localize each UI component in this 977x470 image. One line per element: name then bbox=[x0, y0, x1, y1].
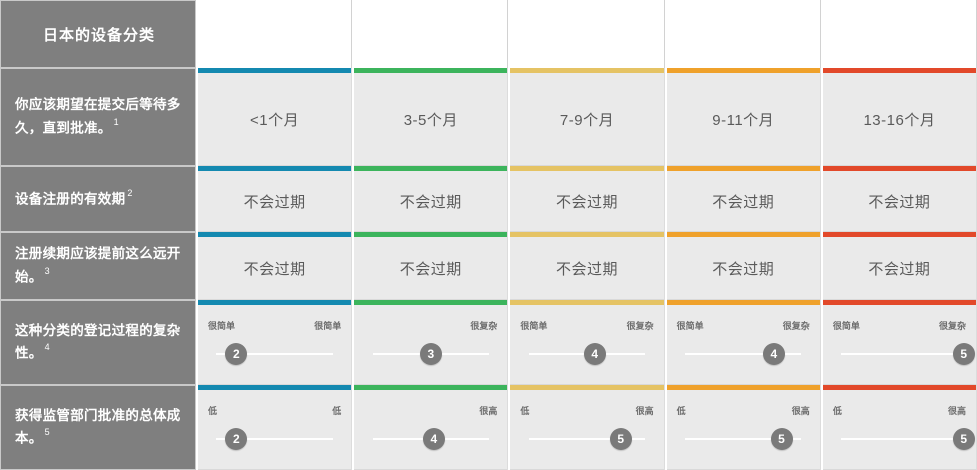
column-header-class-2-controlled[interactable]: 第 Ⅱ 类 受控医疗设备 bbox=[508, 0, 664, 68]
cell-value: 不会过期 bbox=[244, 258, 306, 279]
row-footnote-marker: 2 bbox=[127, 188, 132, 198]
cell-value: 不会过期 bbox=[868, 258, 930, 279]
scale-badge[interactable]: 4 bbox=[584, 343, 606, 365]
scale-right-label: 很复杂 bbox=[783, 319, 810, 332]
scale-badge[interactable]: 4 bbox=[423, 428, 445, 450]
cell-value: 9-11个月 bbox=[712, 109, 774, 130]
cell-approval-time-class-2-designated: 3-5个月 bbox=[352, 68, 508, 166]
cell-value: 不会过期 bbox=[712, 191, 774, 212]
cell-cost-class-3: 低 很高 5 bbox=[665, 385, 821, 470]
scale-badge[interactable]: 5 bbox=[953, 343, 975, 365]
cell-renewal-class-3: 不会过期 bbox=[665, 232, 821, 300]
cell-value: 不会过期 bbox=[868, 191, 930, 212]
scale-right-label: 低 bbox=[332, 404, 341, 417]
scale-left-label: 低 bbox=[833, 404, 842, 417]
cell-approval-time-class-4: 13-16个月 bbox=[821, 68, 977, 166]
cell-value: 3-5个月 bbox=[404, 109, 458, 130]
row-label-renewal-lead-time: 注册续期应该提前这么远开始。3 bbox=[0, 232, 196, 300]
complexity-scale[interactable]: 很简单 很复杂 5 bbox=[823, 305, 976, 385]
column-header-class-3[interactable]: 第III 类 高度控制的医疗设备 bbox=[665, 0, 821, 68]
table-row: 获得监管部门批准的总体成本。5 低 低 2 很高 4 bbox=[0, 385, 977, 470]
scale-left-label: 很简单 bbox=[833, 319, 860, 332]
row-label-text: 注册续期应该提前这么远开始。 bbox=[15, 246, 181, 284]
cell-complexity-class-4: 很简单 很复杂 5 bbox=[821, 300, 977, 385]
cell-cost-class-2-controlled: 低 很高 5 bbox=[508, 385, 664, 470]
column-header-class-2-designated[interactable]: 第 Ⅱ 类 指定的受控医疗设备 bbox=[352, 0, 508, 68]
cell-validity-class-4: 不会过期 bbox=[821, 166, 977, 232]
scale-right-label: 很高 bbox=[636, 404, 654, 417]
complexity-scale[interactable]: 很简单 很复杂 4 bbox=[510, 305, 663, 385]
cost-scale[interactable]: 很高 4 bbox=[354, 390, 507, 470]
scale-left-label: 低 bbox=[520, 404, 529, 417]
cell-approval-time-class-1: <1个月 bbox=[196, 68, 352, 166]
cell-value: 不会过期 bbox=[400, 258, 462, 279]
cell-renewal-class-1: 不会过期 bbox=[196, 232, 352, 300]
scale-left-label: 很简单 bbox=[677, 319, 704, 332]
row-label-text: 你应该期望在提交后等待多久，直到批准。 bbox=[15, 97, 181, 135]
table-header-row: 日本的设备分类 第 Ⅰ 类 一般医疗器械 第 Ⅱ 类 指定的受控医疗设备 第 Ⅱ… bbox=[0, 0, 977, 68]
cell-value: 13-16个月 bbox=[863, 109, 935, 130]
row-label-text: 获得监管部门批准的总体成本。 bbox=[15, 408, 181, 446]
table-row: 注册续期应该提前这么远开始。3 不会过期 不会过期 不会过期 不会过期 不会过期 bbox=[0, 232, 977, 300]
column-subtitle: 高度控制的医疗设备 bbox=[693, 37, 794, 51]
scale-badge[interactable]: 2 bbox=[225, 428, 247, 450]
cell-complexity-class-1: 很简单 很简单 2 bbox=[196, 300, 352, 385]
scale-badge[interactable]: 5 bbox=[953, 428, 975, 450]
scale-track bbox=[841, 438, 957, 440]
cell-value: 不会过期 bbox=[556, 258, 618, 279]
cell-complexity-class-3: 很简单 很复杂 4 bbox=[665, 300, 821, 385]
complexity-scale[interactable]: 很简单 很简单 2 bbox=[198, 305, 351, 385]
device-classification-table: 日本的设备分类 第 Ⅰ 类 一般医疗器械 第 Ⅱ 类 指定的受控医疗设备 第 Ⅱ… bbox=[0, 0, 977, 470]
column-subtitle: 受控医疗设备 bbox=[553, 37, 620, 51]
scale-right-label: 很复杂 bbox=[470, 319, 497, 332]
cost-scale[interactable]: 低 很高 5 bbox=[667, 390, 820, 470]
cell-value: <1个月 bbox=[250, 109, 299, 130]
row-label-text: 这种分类的登记过程的复杂性。 bbox=[15, 323, 181, 361]
column-title: 第 Ⅰ 类 bbox=[251, 17, 298, 35]
table-row: 你应该期望在提交后等待多久，直到批准。1 <1个月 3-5个月 7-9个月 9-… bbox=[0, 68, 977, 166]
cell-renewal-class-2-designated: 不会过期 bbox=[352, 232, 508, 300]
column-subtitle: 高度控制的医疗设备 bbox=[849, 37, 950, 51]
cell-validity-class-1: 不会过期 bbox=[196, 166, 352, 232]
cell-value: 7-9个月 bbox=[560, 109, 614, 130]
row-label-text: 设备注册的有效期 bbox=[15, 191, 125, 206]
column-title: 第Ⅳ类 bbox=[875, 17, 923, 35]
scale-badge[interactable]: 3 bbox=[420, 343, 442, 365]
column-header-class-1[interactable]: 第 Ⅰ 类 一般医疗器械 bbox=[196, 0, 352, 68]
cell-approval-time-class-2-controlled: 7-9个月 bbox=[508, 68, 664, 166]
row-label-approval-time: 你应该期望在提交后等待多久，直到批准。1 bbox=[0, 68, 196, 166]
cell-cost-class-2-designated: 很高 4 bbox=[352, 385, 508, 470]
scale-right-label: 很简单 bbox=[314, 319, 341, 332]
scale-left-label: 很简单 bbox=[208, 319, 235, 332]
cell-renewal-class-4: 不会过期 bbox=[821, 232, 977, 300]
column-title: 第 Ⅱ 类 bbox=[405, 17, 457, 35]
row-footnote-marker: 5 bbox=[45, 427, 50, 437]
cell-value: 不会过期 bbox=[400, 191, 462, 212]
cell-value: 不会过期 bbox=[244, 191, 306, 212]
row-label-process-complexity: 这种分类的登记过程的复杂性。4 bbox=[0, 300, 196, 385]
complexity-scale[interactable]: 很简单 很复杂 4 bbox=[667, 305, 820, 385]
cell-validity-class-3: 不会过期 bbox=[665, 166, 821, 232]
scale-right-label: 很复杂 bbox=[627, 319, 654, 332]
table-row: 这种分类的登记过程的复杂性。4 很简单 很简单 2 很复杂 3 bbox=[0, 300, 977, 385]
row-footnote-marker: 4 bbox=[45, 342, 50, 352]
row-label-registration-validity: 设备注册的有效期2 bbox=[0, 166, 196, 232]
column-title: 第 Ⅱ 类 bbox=[561, 17, 613, 35]
cell-value: 不会过期 bbox=[556, 191, 618, 212]
cell-cost-class-1: 低 低 2 bbox=[196, 385, 352, 470]
scale-right-label: 很复杂 bbox=[939, 319, 966, 332]
cell-renewal-class-2-controlled: 不会过期 bbox=[508, 232, 664, 300]
scale-badge[interactable]: 5 bbox=[610, 428, 632, 450]
cell-complexity-class-2-controlled: 很简单 很复杂 4 bbox=[508, 300, 664, 385]
scale-right-label: 很高 bbox=[479, 404, 497, 417]
scale-right-label: 很高 bbox=[948, 404, 966, 417]
scale-badge[interactable]: 4 bbox=[763, 343, 785, 365]
table-corner-label: 日本的设备分类 bbox=[0, 0, 196, 68]
cell-complexity-class-2-designated: 很复杂 3 bbox=[352, 300, 508, 385]
complexity-scale[interactable]: 很复杂 3 bbox=[354, 305, 507, 385]
cost-scale[interactable]: 低 很高 5 bbox=[823, 390, 976, 470]
column-title: 第III 类 bbox=[718, 17, 769, 35]
cost-scale[interactable]: 低 很高 5 bbox=[510, 390, 663, 470]
column-subtitle: 一般医疗器械 bbox=[241, 37, 308, 51]
row-footnote-marker: 3 bbox=[45, 266, 50, 276]
scale-left-label: 低 bbox=[208, 404, 217, 417]
cell-value: 不会过期 bbox=[712, 258, 774, 279]
row-label-overall-cost: 获得监管部门批准的总体成本。5 bbox=[0, 385, 196, 470]
scale-badge[interactable]: 5 bbox=[771, 428, 793, 450]
corner-label-text: 日本的设备分类 bbox=[43, 24, 155, 45]
cell-validity-class-2-controlled: 不会过期 bbox=[508, 166, 664, 232]
column-subtitle: 指定的受控医疗设备 bbox=[380, 37, 481, 51]
column-header-class-4[interactable]: 第Ⅳ类 高度控制的医疗设备 bbox=[821, 0, 977, 68]
scale-badge[interactable]: 2 bbox=[225, 343, 247, 365]
scale-right-label: 很高 bbox=[792, 404, 810, 417]
scale-left-label: 很简单 bbox=[520, 319, 547, 332]
cost-scale[interactable]: 低 低 2 bbox=[198, 390, 351, 470]
scale-left-label: 低 bbox=[677, 404, 686, 417]
cell-validity-class-2-designated: 不会过期 bbox=[352, 166, 508, 232]
cell-cost-class-4: 低 很高 5 bbox=[821, 385, 977, 470]
table-row: 设备注册的有效期2 不会过期 不会过期 不会过期 不会过期 不会过期 bbox=[0, 166, 977, 232]
scale-track bbox=[841, 353, 957, 355]
cell-approval-time-class-3: 9-11个月 bbox=[665, 68, 821, 166]
row-footnote-marker: 1 bbox=[114, 117, 119, 127]
